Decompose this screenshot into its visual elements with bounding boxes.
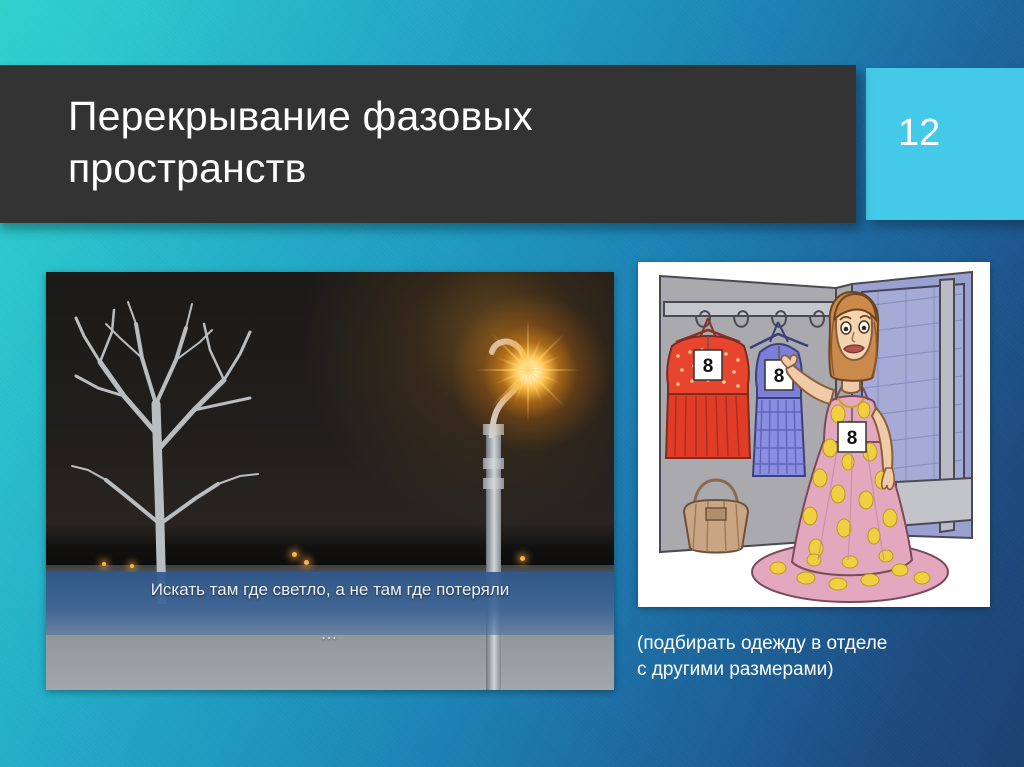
- slide-number: 12: [898, 114, 940, 152]
- photo-caption-ellipsis: …: [46, 624, 614, 644]
- presentation-slide: Перекрывание фазовых пространств 12: [0, 0, 1024, 767]
- lamp-collar: [483, 478, 504, 489]
- slide-title: Перекрывание фазовых пространств: [68, 91, 808, 194]
- slide-number-box: 12: [866, 68, 1024, 220]
- bare-tree: [54, 284, 284, 604]
- size-tag-red-dress: 8: [703, 356, 714, 377]
- fitting-room-cartoon: 8: [638, 262, 990, 607]
- title-bar: Перекрывание фазовых пространств: [0, 65, 856, 223]
- photo-caption-primary: Искать там где светло, а не там где поте…: [46, 580, 614, 600]
- lamp-collar: [483, 458, 504, 469]
- lamp-post: [486, 432, 501, 690]
- distant-light: [292, 552, 297, 557]
- size-tag-blue-dress: 8: [774, 366, 785, 387]
- distant-light: [130, 564, 134, 568]
- cartoon-caption: (подбирать одежду в отделе с другими раз…: [637, 631, 1017, 683]
- distant-light: [304, 560, 309, 565]
- size-tag-worn-dress: 8: [847, 428, 858, 449]
- night-street-photo: Искать там где светло, а не там где поте…: [46, 272, 614, 690]
- distant-light: [520, 556, 525, 561]
- distant-light: [102, 562, 106, 566]
- lamp-rays: [528, 371, 530, 373]
